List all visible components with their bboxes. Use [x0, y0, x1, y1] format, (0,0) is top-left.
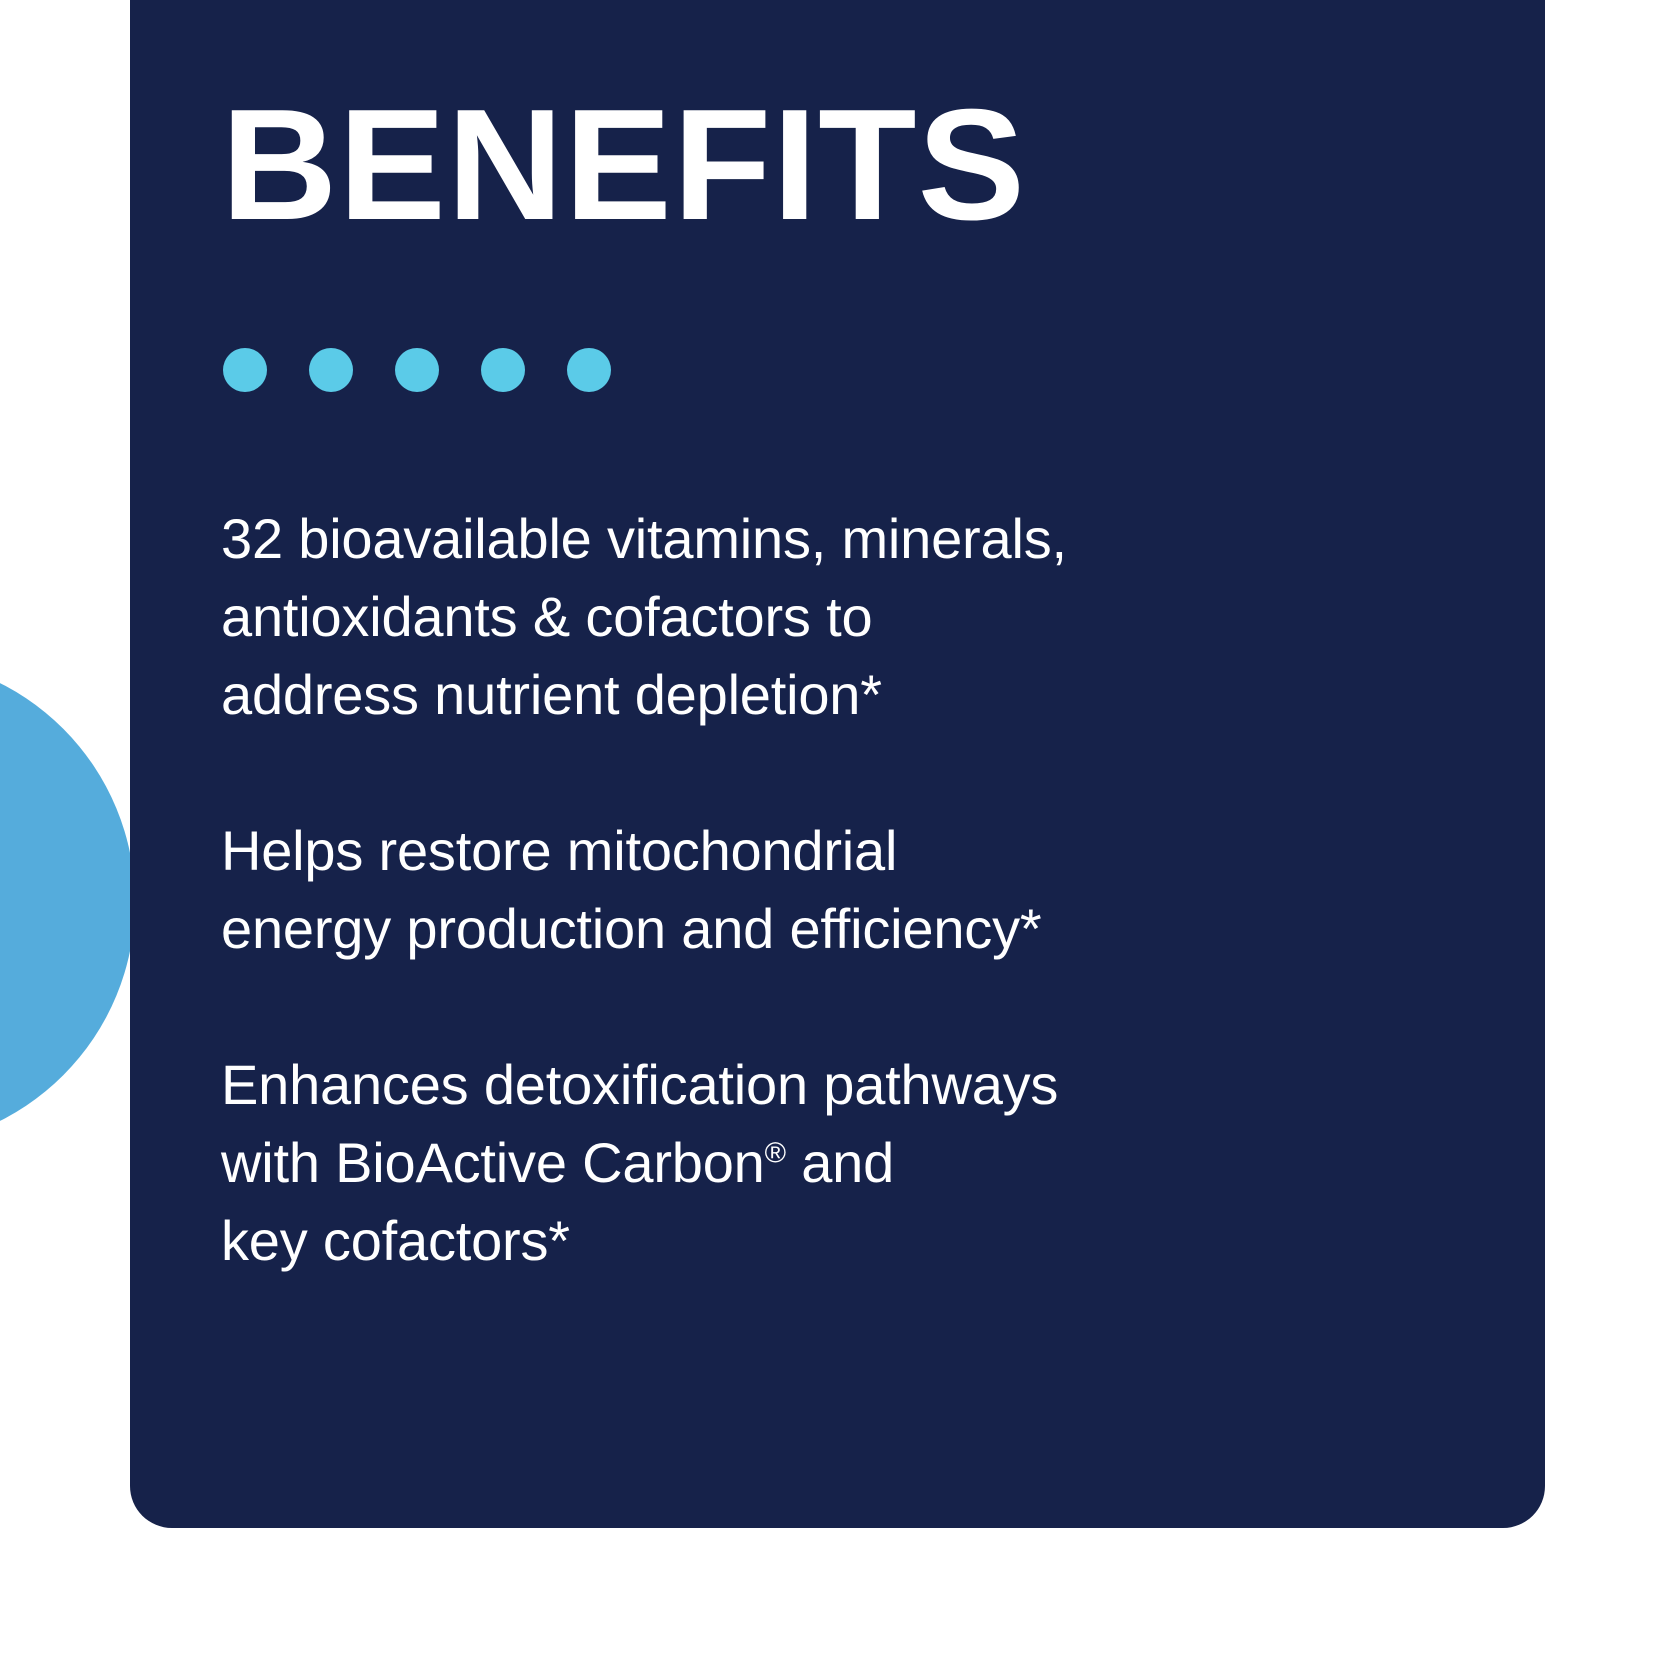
benefit-text-before: Enhances detoxification pathways with Bi…: [221, 1053, 1058, 1194]
list-item: Enhances detoxification pathways with Bi…: [221, 1046, 1401, 1280]
benefits-card: BENEFITS 32 bioavailable vitamins, miner…: [130, 0, 1545, 1528]
benefits-list: 32 bioavailable vitamins, minerals, anti…: [221, 500, 1401, 1280]
list-item: Helps restore mitochondrial energy produ…: [221, 812, 1401, 968]
accent-dot-5: [567, 348, 611, 392]
list-item: 32 bioavailable vitamins, minerals, anti…: [221, 500, 1401, 734]
accent-dot-2: [309, 348, 353, 392]
page-title: BENEFITS: [221, 86, 1026, 244]
accent-dot-1: [223, 348, 267, 392]
decorative-circle: [0, 657, 135, 1147]
accent-dot-4: [481, 348, 525, 392]
dot-divider: [223, 348, 611, 392]
card-content: BENEFITS 32 bioavailable vitamins, miner…: [221, 0, 1485, 1528]
accent-dot-3: [395, 348, 439, 392]
registered-trademark-icon: ®: [765, 1137, 786, 1169]
benefits-panel: BENEFITS 32 bioavailable vitamins, miner…: [0, 0, 1680, 1680]
